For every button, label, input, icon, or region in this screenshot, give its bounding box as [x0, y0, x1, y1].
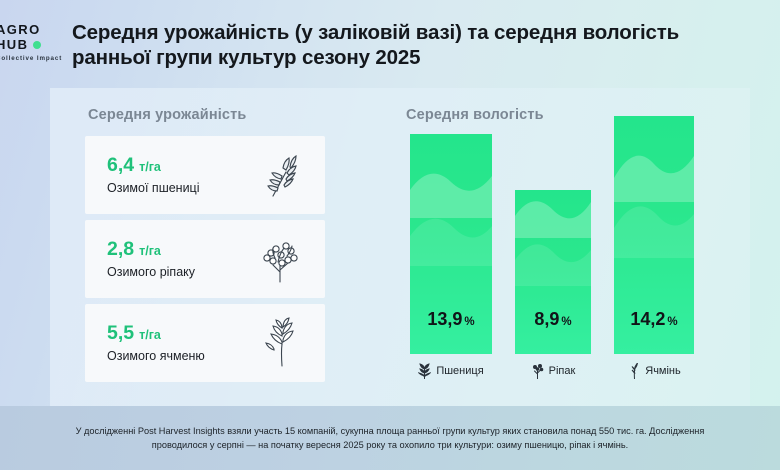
bar-barley[interactable]: 14,2% — [614, 116, 694, 354]
yield-value-unit: т/га — [139, 157, 161, 178]
footer-bar: У дослідженні Post Harvest Insights взял… — [0, 406, 780, 470]
bar-label-rapeseed: Ріпак — [505, 363, 601, 379]
barley-icon — [627, 363, 640, 379]
yield-card-text: 2,8 т/га Озимого ріпаку — [107, 239, 239, 280]
bar-rapeseed[interactable]: 8,9% — [515, 190, 591, 354]
yield-value-number: 6,4 — [107, 155, 134, 176]
yield-card-text: 6,4 т/га Озимої пшениці — [107, 155, 239, 196]
yield-card-value: 5,5 т/га — [107, 323, 239, 346]
rapeseed-icon — [531, 363, 544, 379]
bar-value-unit-barley: % — [667, 316, 677, 328]
yield-value-unit: т/га — [139, 325, 161, 346]
yield-card-list: 6,4 т/га Озимої пшениці — [85, 136, 325, 388]
logo-line-1: AGRO — [0, 22, 58, 37]
logo-line-2: HUB — [0, 37, 58, 52]
bar-label-text-barley: Ячмінь — [645, 365, 681, 377]
moisture-bar-chart: 13,9% Пшениця — [402, 118, 714, 386]
content-panel: Середня урожайність Середня вологість 6,… — [50, 88, 750, 406]
yield-value-number: 5,5 — [107, 323, 134, 344]
bar-value-wheat: 13,9% — [410, 309, 492, 330]
footer-note: У дослідженні Post Harvest Insights взял… — [40, 424, 740, 452]
bar-group-wheat: 13,9% Пшениця — [410, 134, 492, 354]
bar-value-number-barley: 14,2 — [630, 309, 665, 329]
bar-value-number-rapeseed: 8,9 — [534, 309, 559, 329]
yield-card-text: 5,5 т/га Озимого ячменю — [107, 323, 239, 364]
logo-line-2-text: HUB — [0, 37, 28, 52]
bar-wave-decoration — [410, 196, 492, 266]
bar-wave-decoration — [515, 224, 591, 286]
agrohub-logo: AGRO HUB Collective Impact — [0, 18, 58, 66]
yield-card-value: 2,8 т/га — [107, 239, 239, 262]
page-title: Середня урожайність (у заліковій вазі) т… — [72, 20, 712, 70]
yield-value-unit: т/га — [139, 241, 161, 262]
yield-card-label: Озимого ячменю — [107, 348, 239, 364]
bar-wheat[interactable]: 13,9% — [410, 134, 492, 354]
yield-value-number: 2,8 — [107, 239, 134, 260]
barley-icon — [253, 316, 307, 370]
wheat-icon — [253, 148, 307, 202]
bar-value-number-wheat: 13,9 — [427, 309, 462, 329]
bar-value-unit-wheat: % — [464, 316, 474, 328]
bar-value-unit-rapeseed: % — [561, 316, 571, 328]
bar-value-barley: 14,2% — [614, 309, 694, 330]
wheat-icon — [418, 363, 431, 379]
yield-card-label: Озимого ріпаку — [107, 264, 239, 280]
yield-card-value: 6,4 т/га — [107, 155, 239, 178]
bar-group-barley: 14,2% Ячмінь — [614, 116, 694, 354]
yield-card: 5,5 т/га Озимого ячменю — [85, 304, 325, 382]
bar-value-rapeseed: 8,9% — [515, 309, 591, 330]
yield-card-label: Озимої пшениці — [107, 180, 239, 196]
logo-dot-icon — [33, 41, 41, 49]
logo-tagline: Collective Impact — [0, 55, 58, 62]
bar-group-rapeseed: 8,9% Ріпак — [515, 190, 591, 354]
bar-label-barley: Ячмінь — [604, 363, 704, 379]
yield-section-title: Середня урожайність — [88, 107, 246, 123]
bar-wave-decoration — [614, 182, 694, 258]
bar-label-wheat: Пшениця — [400, 363, 502, 379]
rapeseed-icon — [253, 232, 307, 286]
page-header: AGRO HUB Collective Impact Середня урожа… — [0, 0, 780, 88]
bar-label-text-wheat: Пшениця — [436, 365, 483, 377]
bar-label-text-rapeseed: Ріпак — [549, 365, 576, 377]
yield-card: 6,4 т/га Озимої пшениці — [85, 136, 325, 214]
yield-card: 2,8 т/га Озимого ріпаку — [85, 220, 325, 298]
